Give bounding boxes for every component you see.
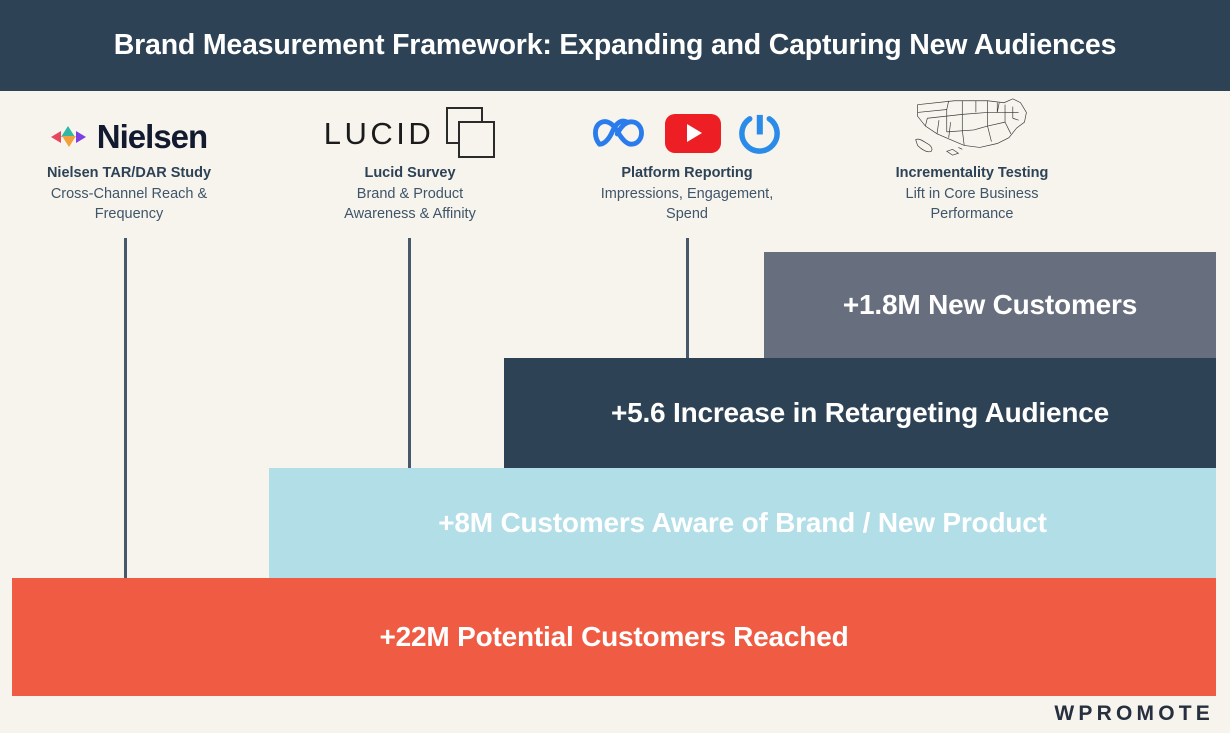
connector-line-nielsen (124, 238, 127, 579)
header-banner: Brand Measurement Framework: Expanding a… (0, 0, 1230, 91)
funnel-bar-label-reached: +22M Potential Customers Reached (380, 621, 849, 653)
source-column-nielsen: Nielsen Nielsen TAR/DAR Study Cross-Chan… (16, 91, 242, 224)
source-subtitle-incrementality-line2: Performance (859, 204, 1085, 224)
triangle-left-icon (51, 131, 61, 143)
connector-line-lucid (408, 238, 411, 469)
platform-logos (574, 105, 800, 161)
source-column-lucid: LUCID Lucid Survey Brand & Product Aware… (297, 91, 523, 224)
funnel-bar-retargeting: +5.6 Increase in Retargeting Audience (504, 358, 1216, 468)
nielsen-logo: Nielsen (16, 113, 242, 161)
lucid-logo: LUCID (297, 107, 523, 161)
triangle-down-icon (62, 136, 76, 147)
source-subtitle-lucid-line1: Brand & Product (297, 184, 523, 204)
source-subtitle-platform-line1: Impressions, Engagement, (574, 184, 800, 204)
youtube-logo-icon (665, 114, 721, 153)
source-column-platform: Platform Reporting Impressions, Engageme… (574, 91, 800, 224)
footer: WPROMOTE (0, 696, 1230, 733)
infographic-page: Brand Measurement Framework: Expanding a… (0, 0, 1230, 733)
page-title: Brand Measurement Framework: Expanding a… (114, 29, 1116, 62)
square-front-icon (458, 121, 495, 158)
funnel-bar-awareness: +8M Customers Aware of Brand / New Produ… (269, 468, 1216, 578)
us-map-logo (859, 93, 1085, 161)
play-triangle-icon (687, 124, 702, 142)
source-subtitle-platform-line2: Spend (574, 204, 800, 224)
funnel-bar-new-customers: +1.8M New Customers (764, 252, 1216, 358)
source-title-nielsen: Nielsen TAR/DAR Study (16, 163, 242, 184)
nielsen-wordmark: Nielsen (97, 118, 207, 156)
source-subtitle-nielsen-line2: Frequency (16, 204, 242, 224)
funnel-bar-reached: +22M Potential Customers Reached (12, 578, 1216, 696)
funnel-bar-label-new-customers: +1.8M New Customers (843, 289, 1137, 321)
source-title-lucid: Lucid Survey (297, 163, 523, 184)
meta-logo-icon (593, 113, 649, 153)
source-subtitle-lucid-line2: Awareness & Affinity (297, 204, 523, 224)
source-title-platform: Platform Reporting (574, 163, 800, 184)
lucid-wordmark: LUCID (324, 116, 435, 152)
platform-logos-icon (593, 111, 782, 156)
funnel-bar-label-awareness: +8M Customers Aware of Brand / New Produ… (438, 507, 1047, 539)
nielsen-logo-icon (51, 125, 89, 149)
source-title-incrementality: Incrementality Testing (859, 163, 1085, 184)
triangle-right-icon (76, 131, 86, 143)
us-map-icon (902, 93, 1042, 161)
source-subtitle-nielsen-line1: Cross-Channel Reach & (16, 184, 242, 204)
funnel-bar-label-retargeting: +5.6 Increase in Retargeting Audience (611, 397, 1109, 429)
measurement-sources-row: Nielsen Nielsen TAR/DAR Study Cross-Chan… (0, 91, 1230, 236)
source-column-incrementality: Incrementality Testing Lift in Core Busi… (859, 91, 1085, 224)
source-subtitle-incrementality-line1: Lift in Core Business (859, 184, 1085, 204)
lucid-squares-icon (440, 107, 496, 161)
wpromote-logo: WPROMOTE (1054, 702, 1214, 726)
power-circle-icon (737, 111, 782, 156)
connector-line-platform (686, 238, 689, 359)
lucid-logo-icon: LUCID (324, 107, 497, 161)
